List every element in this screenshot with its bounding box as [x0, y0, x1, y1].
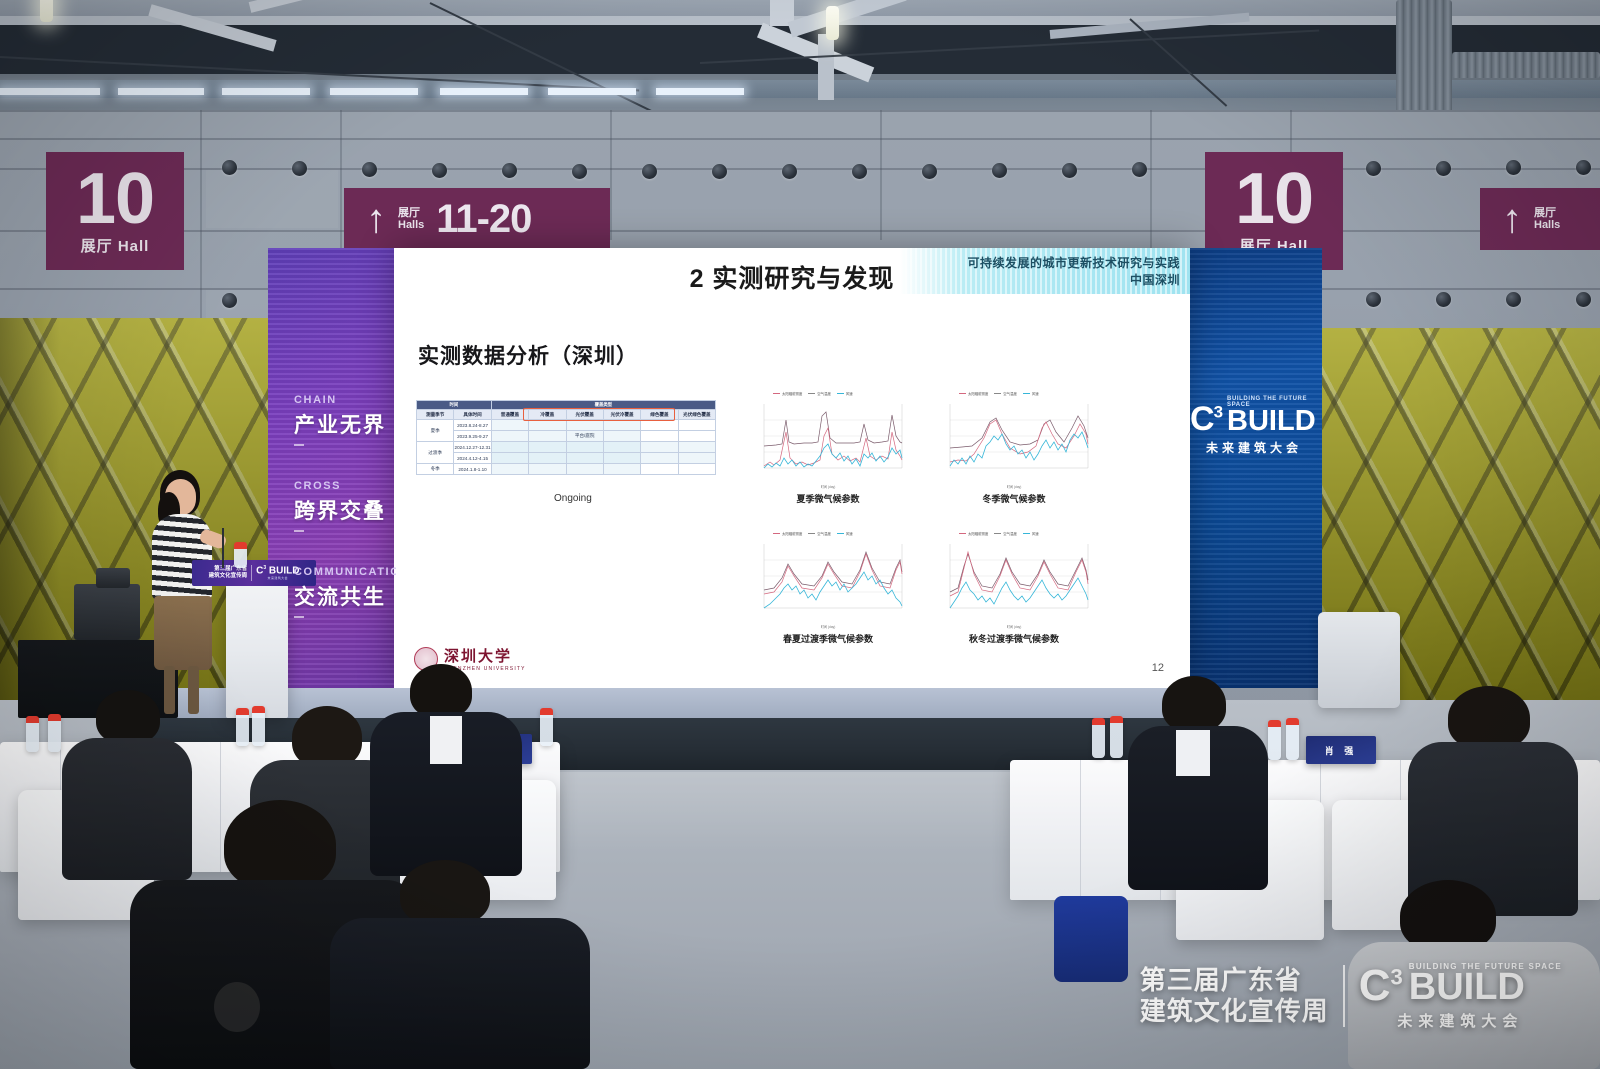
table-col-7: 光伏绿色覆盖 [678, 410, 715, 420]
equipment-case [96, 568, 130, 588]
microphone-stand [222, 528, 224, 568]
table-col-1: 具体时间 [454, 410, 491, 420]
banner-left-cn-0: 产业无界 [294, 409, 386, 439]
slide-subtitle: 实测数据分析（深圳） [418, 340, 638, 370]
slide-header: 可持续发展的城市更新技术研究与实践 中国深圳 2 实测研究与发现 [394, 248, 1190, 294]
podium-c3-mark: C3 BUILD [256, 566, 299, 576]
direction-sign-right: ↑ 展厅 Halls [1480, 188, 1600, 250]
banner-left-en-0: CHAIN [294, 394, 386, 406]
chart-summer: 太阳辐射照度 空气温度 风速 [742, 390, 914, 488]
chart-legend: 太阳辐射照度 空气温度 风速 [773, 531, 853, 536]
banner-rule [294, 616, 304, 618]
row-season-1: 过渡季 [417, 442, 454, 464]
chart-spring-summer-transition: 太阳辐射照度 空气温度 风速 [742, 530, 914, 628]
table-group-time: 时间 [417, 401, 492, 410]
table-col-6: 绿色覆盖 [641, 410, 678, 420]
banner-rule [294, 444, 304, 446]
chart-caption-autumn-winter: 秋冬过渡季微气候参数 [928, 632, 1100, 645]
conference-photo: 10 展厅 Hall ↑ 展厅 Halls 11-20 10 展厅 Hall ↑… [0, 0, 1600, 1069]
podium [226, 566, 288, 718]
table-row: 过渡季 2024.12.27-12.31 [417, 442, 716, 453]
chart-legend: 太阳辐射照度 空气温度 风速 [959, 531, 1039, 536]
banner-left-cn-1: 跨界交叠 [294, 495, 386, 525]
equipment-case [74, 584, 140, 640]
hall-number: 10 [76, 166, 154, 232]
c3-word: BUILD [1227, 408, 1316, 434]
row-season-2: 冬季 [417, 464, 454, 475]
c3-mark: C3 [1190, 405, 1222, 434]
table-col-2: 普通覆盖 [491, 410, 528, 420]
projection-screen: 可持续发展的城市更新技术研究与实践 中国深圳 2 实测研究与发现 实测数据分析（… [394, 248, 1190, 688]
event-watermark: 第三届广东省 建筑文化宣传周 C3 BUILDING THE FUTURE SP… [1140, 962, 1562, 1031]
chart-caption-spring-summer: 春夏过渡季微气候参数 [742, 632, 914, 645]
presenter-torso [152, 514, 212, 600]
direction-sign-left: ↑ 展厅 Halls 11-20 [344, 188, 610, 250]
podium-sign-divider [251, 565, 252, 581]
water-bottle [26, 716, 39, 752]
banner-right: C3 BUILDING THE FUTURE SPACE BUILD 未来建筑大… [1186, 248, 1322, 688]
arrow-up-icon: ↑ [366, 199, 386, 239]
c3-cn-subtitle: 未来建筑大会 [1206, 439, 1302, 456]
hall-number: 10 [1235, 166, 1313, 232]
chart-caption-winter: 冬季微气候参数 [928, 492, 1100, 505]
water-bottle [236, 708, 249, 746]
watermark-cn-sub: 未来建筑大会 [1397, 1010, 1523, 1031]
podium-sign-cn: 第三届广东省 建筑文化宣传周 [209, 566, 248, 580]
arrow-up-icon: ↑ [1502, 199, 1522, 239]
row-season-0: 夏季 [417, 420, 454, 442]
university-name-cn: 深圳大学 [444, 645, 526, 666]
presentation-slide: 可持续发展的城市更新技术研究与实践 中国深圳 2 实测研究与发现 实测数据分析（… [394, 248, 1190, 688]
ongoing-label: Ongoing [554, 493, 592, 504]
chart-caption-summer: 夏季微气候参数 [742, 492, 914, 505]
presenter [144, 470, 224, 720]
table-col-3: 冷覆盖 [529, 410, 566, 420]
audience-member [1128, 676, 1268, 890]
hall-sub-label: 展厅 Hall [81, 235, 150, 256]
halls-range: 11-20 [436, 197, 531, 242]
chart-legend: 太阳辐射照度 空气温度 风速 [773, 391, 853, 396]
water-bottle [1110, 716, 1123, 758]
table-col-5: 光伏冷覆盖 [603, 410, 640, 420]
table-row: 2023.9.25-9.27 平台/庭院 [417, 431, 716, 442]
presenter-skirt [154, 596, 212, 670]
water-bottle [540, 708, 553, 746]
water-bottle [1268, 720, 1281, 760]
bag [1054, 896, 1128, 982]
table-row: 夏季 2023.8.24-8.27 [417, 420, 716, 431]
watermark-c3-mark: C3 [1359, 968, 1403, 1004]
row-note-0: 平台/庭院 [566, 431, 603, 442]
chart-legend: 太阳辐射照度 空气温度 风速 [959, 391, 1039, 396]
table-col-0: 测量季节 [417, 410, 454, 420]
halls-label: 展厅 Halls [398, 207, 424, 232]
pendant-light [826, 6, 839, 40]
stacked-chairs [1318, 612, 1400, 708]
slide-page-number: 12 [1152, 662, 1164, 674]
halls-label: 展厅 Halls [1534, 207, 1560, 232]
table-col-4: 光伏覆盖 [566, 410, 603, 420]
ceiling-structure [0, 0, 1600, 120]
banner-left-en-1: CROSS [294, 480, 386, 492]
banner-rule [294, 530, 304, 532]
table-row: 2024.4.12-4.15 [417, 453, 716, 464]
hall-sign-left: 10 展厅 Hall [46, 152, 184, 270]
water-bottle [1092, 718, 1105, 758]
ribbon-line-2: 中国深圳 [1130, 271, 1180, 288]
water-bottle [48, 714, 61, 752]
banner-left-cn-2: 交流共生 [294, 581, 396, 611]
podium-c3-sub: 未来建筑大会 [268, 576, 288, 580]
chart-autumn-winter-transition: 太阳辐射照度 空气温度 风速 [928, 530, 1100, 628]
watermark-divider [1343, 965, 1345, 1027]
watermark-cn: 第三届广东省 建筑文化宣传周 [1140, 965, 1329, 1028]
row-time-1b: 2024.4.12-4.15 [454, 453, 491, 464]
ribbon-line-1: 可持续发展的城市更新技术研究与实践 [967, 254, 1180, 271]
row-time-1a: 2024.12.27-12.31 [454, 442, 491, 453]
table-row: 冬季 2024.1.8-1.10 [417, 464, 716, 475]
water-bottle [1286, 718, 1299, 760]
nameplate-right: 肖 强 [1306, 736, 1376, 764]
row-time-0a: 2023.8.24-8.27 [454, 420, 491, 431]
table-group-covertype: 覆盖类型 [491, 401, 715, 410]
audience-member [330, 860, 590, 1069]
pendant-light [40, 0, 53, 22]
measurement-table: 时间 覆盖类型 测量季节 具体时间 普通覆盖 冷覆盖 光伏覆盖 光伏冷覆盖 绿色… [416, 400, 716, 475]
water-bottle [234, 542, 247, 568]
row-time-2a: 2024.1.8-1.10 [454, 464, 491, 475]
banner-left-en-2: COMMUNICATION [294, 566, 396, 578]
row-time-0b: 2023.9.25-9.27 [454, 431, 491, 442]
watermark-word: BUILD [1409, 971, 1525, 1004]
chart-winter: 太阳辐射照度 空气温度 风速 [928, 390, 1100, 488]
